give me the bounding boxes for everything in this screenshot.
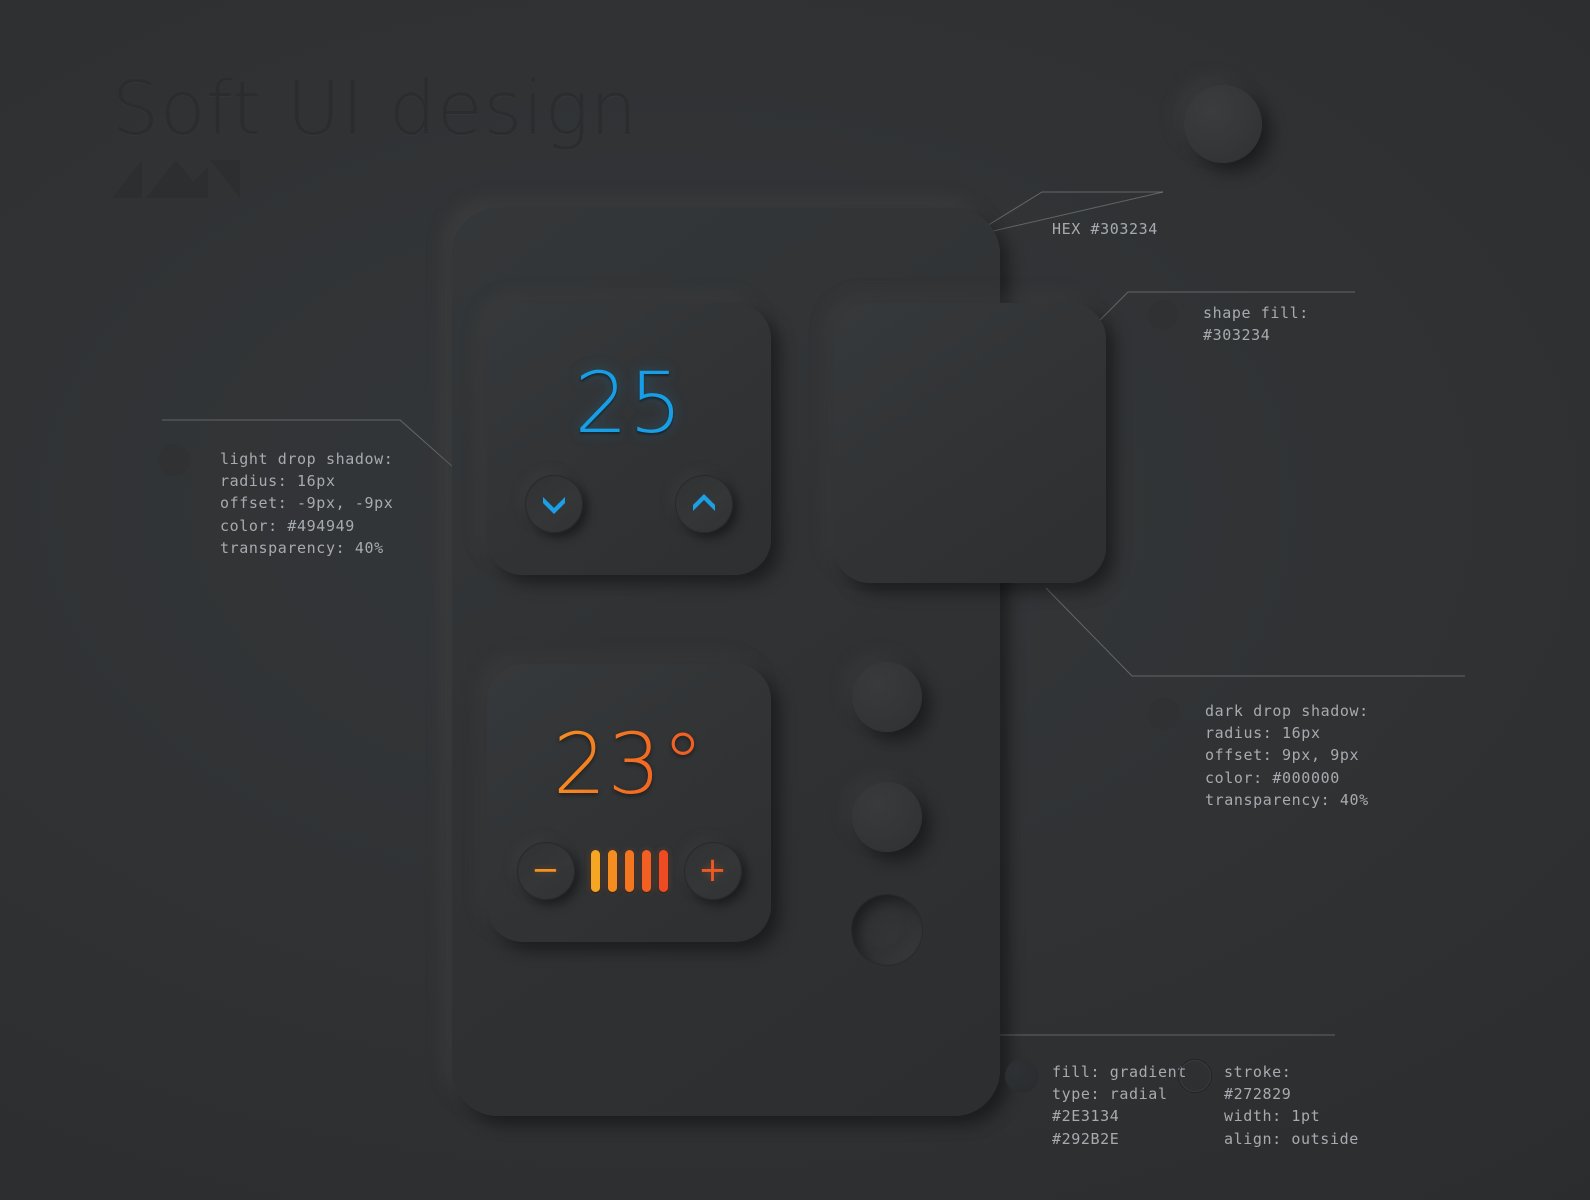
disc-inset[interactable] <box>852 895 922 965</box>
annotation-light-drop-shadow: light drop shadow: radius: 16px offset: … <box>220 448 393 559</box>
chevron-down-button[interactable] <box>525 475 583 533</box>
level-bar <box>625 850 634 892</box>
annotation-fill: fill: gradient type: radial #2E3134 #292… <box>1052 1061 1187 1150</box>
chevron-down-icon <box>540 494 568 514</box>
empty-card[interactable] <box>834 303 1106 583</box>
increase-button[interactable]: + <box>684 842 742 900</box>
chevron-up-button[interactable] <box>675 475 733 533</box>
swatch-stroke <box>1178 1059 1212 1093</box>
level-bar <box>608 850 617 892</box>
heating-card[interactable]: 23° − + <box>487 664 771 942</box>
disc-raised-1[interactable] <box>852 662 922 732</box>
level-bar <box>659 850 668 892</box>
page-title: Soft UI design <box>112 72 638 146</box>
plus-label: + <box>698 853 727 887</box>
design-canvas: Soft UI design 25 <box>0 0 1590 1200</box>
title-block: Soft UI design <box>112 72 638 198</box>
annotation-hex: HEX #303234 <box>1052 218 1158 240</box>
swatch-light-shadow <box>158 444 190 476</box>
level-bars[interactable] <box>591 850 668 892</box>
decrease-button[interactable]: − <box>517 842 575 900</box>
annotation-shape-fill: shape fill: #303234 <box>1203 302 1309 346</box>
swatch-gradient-fill <box>1005 1059 1039 1093</box>
logo-mark <box>112 160 244 198</box>
disc-raised-2[interactable] <box>852 782 922 852</box>
annotation-stroke: stroke: #272829 width: 1pt align: outsid… <box>1224 1061 1359 1150</box>
cooling-readout: 25 <box>487 361 771 445</box>
chevron-up-icon <box>690 494 718 514</box>
swatch-shape-fill <box>1148 300 1178 330</box>
level-bar <box>591 850 600 892</box>
level-bar <box>642 850 651 892</box>
cooling-card[interactable]: 25 <box>487 303 771 575</box>
disc-decorative <box>1184 85 1262 163</box>
heating-readout: 23° <box>487 722 771 806</box>
swatch-dark-shadow <box>1148 698 1180 730</box>
annotation-dark-drop-shadow: dark drop shadow: radius: 16px offset: 9… <box>1205 700 1369 811</box>
minus-label: − <box>531 853 560 887</box>
